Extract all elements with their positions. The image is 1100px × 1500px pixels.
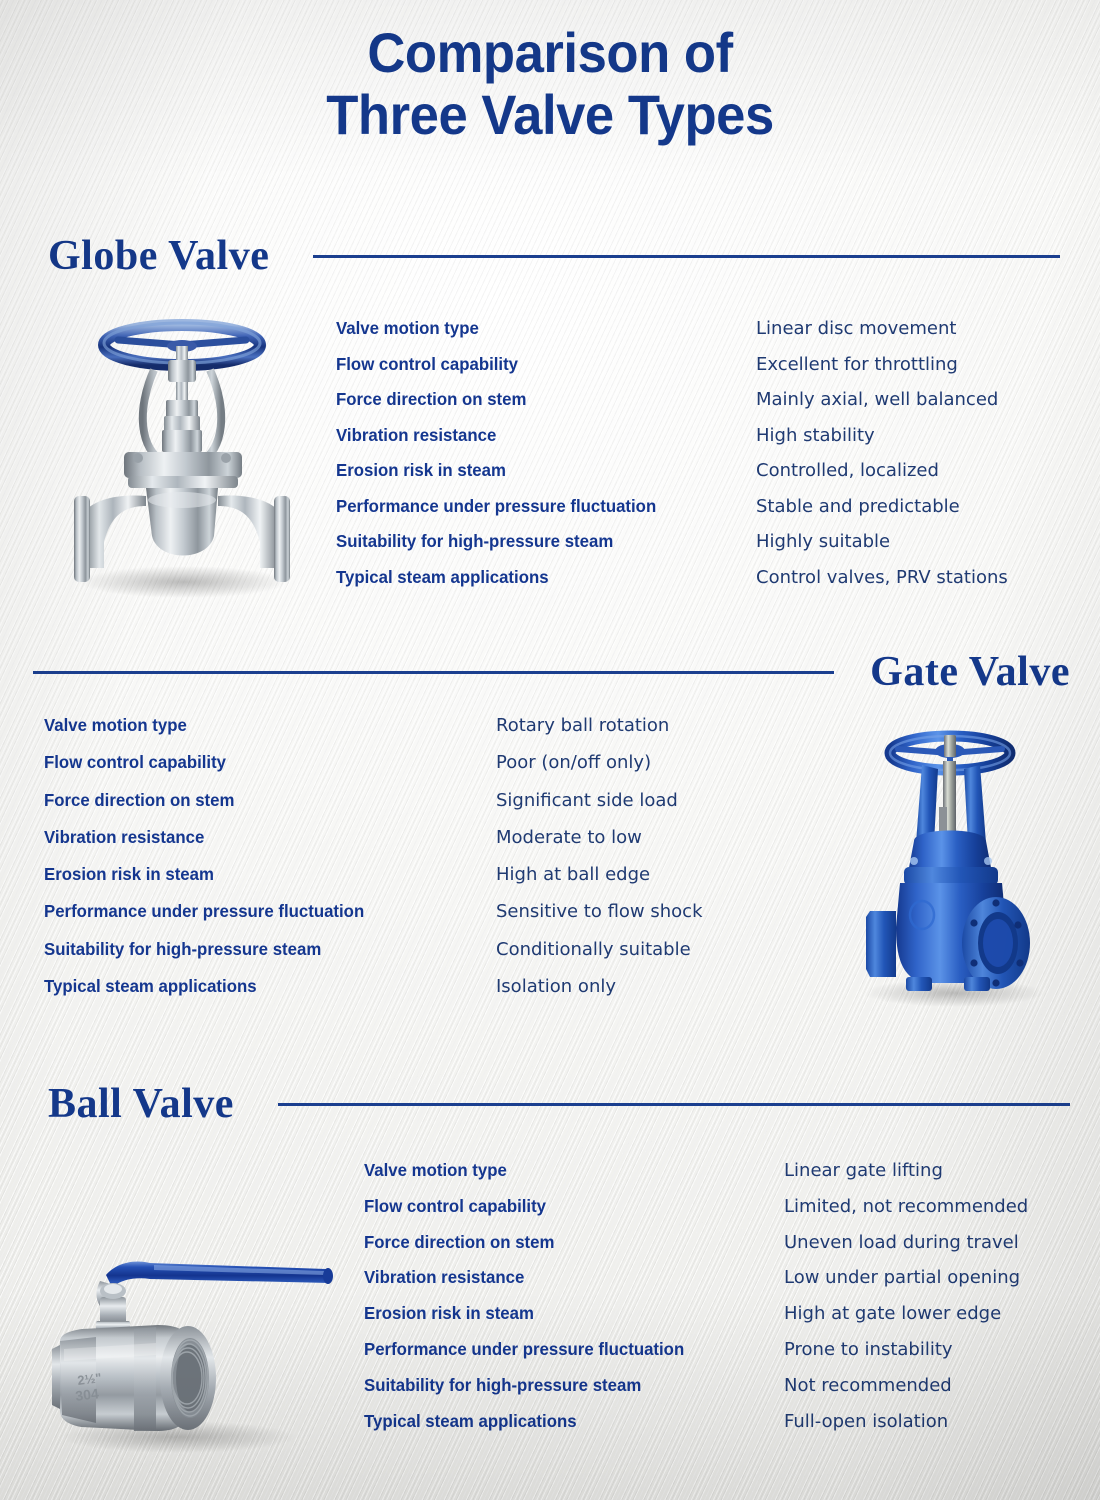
spec-value: Conditionally suitable [496, 939, 691, 960]
table-row: Suitability for high-pressure steam Not … [364, 1375, 1028, 1411]
spec-label: Force direction on stem [44, 790, 478, 811]
spec-label: Flow control capability [44, 752, 478, 773]
section-rule-gate [33, 671, 834, 674]
table-row: Valve motion type Rotary ball rotation [44, 715, 703, 752]
table-row: Vibration resistance High stability [336, 425, 1008, 461]
section-header-gate: Gate Valve [33, 648, 1070, 696]
spec-value: Mainly axial, well balanced [756, 389, 998, 410]
spec-label: Suitability for high-pressure steam [44, 939, 478, 960]
table-row: Force direction on stem Significant side… [44, 790, 703, 827]
spec-label: Erosion risk in steam [336, 460, 739, 481]
table-row: Erosion risk in steam High at gate lower… [364, 1303, 1028, 1339]
table-row: Typical steam applications Control valve… [336, 567, 1008, 603]
section-header-ball: Ball Valve [48, 1080, 1070, 1128]
spec-value: Highly suitable [756, 531, 890, 552]
spec-value: Moderate to low [496, 827, 642, 848]
spec-value: Control valves, PRV stations [756, 567, 1008, 588]
page-title: Comparison of Three Valve Types [33, 22, 1067, 146]
spec-value: High at ball edge [496, 864, 650, 885]
spec-label: Vibration resistance [336, 425, 739, 446]
section-rule-globe [313, 255, 1060, 258]
spec-value: Isolation only [496, 976, 616, 997]
spec-value: High at gate lower edge [784, 1303, 1001, 1324]
table-row: Typical steam applications Full-open iso… [364, 1411, 1028, 1447]
spec-label: Valve motion type [336, 318, 739, 339]
table-row: Performance under pressure fluctuation P… [364, 1339, 1028, 1375]
spec-label: Performance under pressure fluctuation [336, 496, 739, 517]
spec-value: Full-open isolation [784, 1411, 948, 1432]
table-row: Flow control capability Excellent for th… [336, 354, 1008, 390]
spec-label: Erosion risk in steam [44, 864, 478, 885]
spec-label: Vibration resistance [44, 827, 478, 848]
section-title-globe: Globe Valve [48, 232, 269, 280]
spec-label: Performance under pressure fluctuation [44, 901, 478, 922]
spec-label: Suitability for high-pressure steam [336, 531, 739, 552]
table-row: Valve motion type Linear disc movement [336, 318, 1008, 354]
spec-label: Valve motion type [364, 1160, 767, 1181]
table-row: Vibration resistance Moderate to low [44, 827, 703, 864]
spec-label: Force direction on stem [364, 1232, 767, 1253]
table-row: Performance under pressure fluctuation S… [336, 496, 1008, 532]
spec-value: Poor (on/off only) [496, 752, 651, 773]
spec-label: Typical steam applications [336, 567, 739, 588]
table-row: Suitability for high-pressure steam Cond… [44, 939, 703, 976]
spec-label: Erosion risk in steam [364, 1303, 767, 1324]
spec-label: Force direction on stem [336, 389, 739, 410]
page-title-line1: Comparison of [367, 21, 732, 84]
table-row: Flow control capability Poor (on/off onl… [44, 752, 703, 789]
table-row: Erosion risk in steam High at ball edge [44, 864, 703, 901]
section-title-ball: Ball Valve [48, 1080, 234, 1128]
spec-value: Linear disc movement [756, 318, 956, 339]
table-row: Erosion risk in steam Controlled, locali… [336, 460, 1008, 496]
table-row: Force direction on stem Uneven load duri… [364, 1232, 1028, 1268]
table-row: Vibration resistance Low under partial o… [364, 1267, 1028, 1303]
spec-label: Suitability for high-pressure steam [364, 1375, 767, 1396]
spec-label: Valve motion type [44, 715, 478, 736]
table-row: Suitability for high-pressure steam High… [336, 531, 1008, 567]
spec-value: Sensitive to flow shock [496, 901, 703, 922]
spec-table-gate: Valve motion type Rotary ball rotation F… [44, 715, 703, 1013]
ball-valve-photo: 2½" 304 [38, 1245, 358, 1460]
spec-value: Linear gate lifting [784, 1160, 943, 1181]
spec-table-globe: Valve motion type Linear disc movement F… [336, 318, 1008, 602]
spec-value: Uneven load during travel [784, 1232, 1019, 1253]
spec-label: Flow control capability [364, 1196, 767, 1217]
globe-valve-photo [58, 300, 308, 600]
spec-value: Low under partial opening [784, 1267, 1020, 1288]
gate-valve-photo [846, 715, 1066, 1010]
page-title-line2: Three Valve Types [33, 84, 1067, 146]
spec-label: Typical steam applications [44, 976, 478, 997]
spec-label: Performance under pressure fluctuation [364, 1339, 767, 1360]
table-row: Valve motion type Linear gate lifting [364, 1160, 1028, 1196]
spec-label: Flow control capability [336, 354, 739, 375]
spec-value: Excellent for throttling [756, 354, 958, 375]
spec-value: Not recommended [784, 1375, 952, 1396]
spec-label: Vibration resistance [364, 1267, 767, 1288]
infographic-page: Comparison of Three Valve Types Globe Va… [0, 0, 1100, 1500]
table-row: Performance under pressure fluctuation S… [44, 901, 703, 938]
table-row: Typical steam applications Isolation onl… [44, 976, 703, 1013]
table-row: Flow control capability Limited, not rec… [364, 1196, 1028, 1232]
spec-table-ball: Valve motion type Linear gate lifting Fl… [364, 1160, 1028, 1446]
spec-value: Significant side load [496, 790, 678, 811]
spec-value: Limited, not recommended [784, 1196, 1028, 1217]
spec-value: Rotary ball rotation [496, 715, 669, 736]
section-title-gate: Gate Valve [870, 648, 1070, 696]
spec-label: Typical steam applications [364, 1411, 767, 1432]
section-header-globe: Globe Valve [48, 232, 1060, 280]
spec-value: Controlled, localized [756, 460, 939, 481]
spec-value: Prone to instability [784, 1339, 953, 1360]
spec-value: Stable and predictable [756, 496, 960, 517]
ball-valve-material-marking: 304 [74, 1385, 99, 1404]
spec-value: High stability [756, 425, 875, 446]
table-row: Force direction on stem Mainly axial, we… [336, 389, 1008, 425]
section-rule-ball [278, 1103, 1070, 1106]
